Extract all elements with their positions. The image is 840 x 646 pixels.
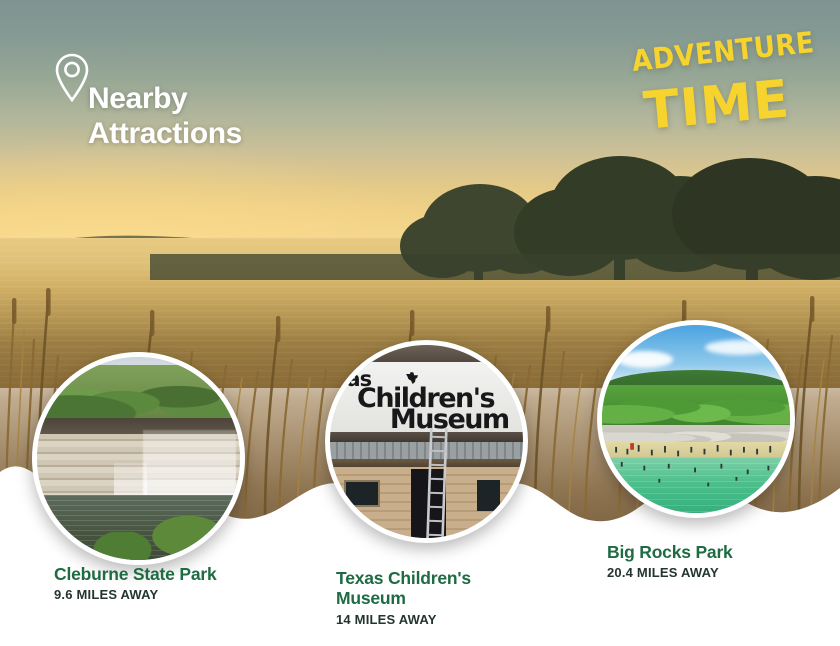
caption-texas-childrens-museum: Texas Children's Museum 14 MILES AWAY [336,568,536,627]
nearby-attractions-poster: Nearby Attractions ADVENTURE TIME xas [0,0,840,646]
location-pin-icon [54,52,90,104]
swimmers [602,430,790,505]
page-title-line1: Nearby [88,82,187,115]
attraction-distance: 9.6 MILES AWAY [54,587,314,602]
waterfall-photo [37,357,240,560]
attraction-distance: 20.4 MILES AWAY [607,565,837,580]
page-title: Nearby Attractions [88,82,408,152]
museum-sign: xas Children's Museum [330,368,523,434]
attraction-distance: 14 MILES AWAY [336,612,536,627]
museum-building-photo: xas Children's Museum [330,345,523,538]
caption-cleburne-state-park: Cleburne State Park 9.6 MILES AWAY [54,564,314,602]
attraction-thumbnail-big-rocks-park[interactable] [597,320,795,518]
attraction-name: Cleburne State Park [54,564,314,584]
badge-line-time: TIME [641,68,808,142]
attraction-name: Big Rocks Park [607,542,837,562]
river-swimming-hole-photo [602,325,790,513]
attraction-name: Texas Children's Museum [336,568,536,609]
page-title-line2: Attractions [88,117,408,152]
ladder [424,428,448,543]
attraction-thumbnail-cleburne-state-park[interactable] [32,352,245,565]
attraction-thumbnail-texas-childrens-museum[interactable]: xas Children's Museum [325,340,528,543]
adventure-time-badge: ADVENTURE TIME [630,44,806,164]
caption-big-rocks-park: Big Rocks Park 20.4 MILES AWAY [607,542,837,580]
museum-sign-line3: Museum [390,406,509,433]
